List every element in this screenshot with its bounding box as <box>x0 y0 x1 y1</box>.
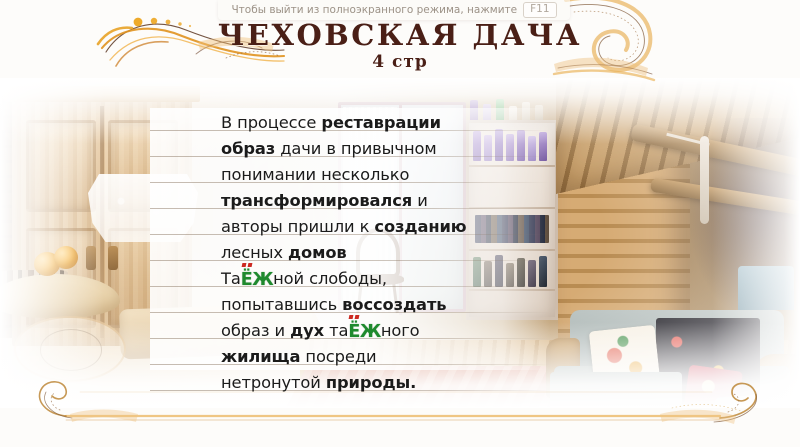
article-text-panel: В процессе реставрацииобраз дачи в привы… <box>150 108 550 370</box>
blue-pillow <box>715 394 770 408</box>
article-emphasis: реставрации <box>321 113 441 132</box>
page-subtitle: 4 стр <box>0 52 800 72</box>
article-line: образ и дух таЁЖного <box>221 318 551 344</box>
lamp-shade-ring <box>14 316 126 382</box>
ezh-logo-dots-icon <box>242 263 253 268</box>
wardrobe-panel <box>26 120 96 212</box>
wooden-sofa <box>548 310 800 408</box>
article-line: авторы пришли к созданию <box>221 214 551 240</box>
orange-fruit <box>54 246 78 269</box>
article-emphasis: жилища <box>221 347 300 366</box>
slide-stage: В процессе реставрацииобраз дачи в привы… <box>0 0 800 447</box>
article-line: трансформировался и <box>221 188 551 214</box>
article-body: В процессе реставрацииобраз дачи в привы… <box>221 110 551 396</box>
article-emphasis: природы. <box>326 373 416 392</box>
article-text: В процессе <box>221 113 321 132</box>
article-emphasis: домов <box>288 243 347 262</box>
article-emphasis: образ <box>221 139 275 158</box>
article-line: жилища посреди <box>221 344 551 370</box>
article-text: ного <box>381 321 420 340</box>
article-text: попытавшись <box>221 295 342 314</box>
article-text: посреди <box>300 347 376 366</box>
article-emphasis: созданию <box>374 217 466 236</box>
fullscreen-key-badge: F11 <box>523 2 556 18</box>
article-text: лесных <box>221 243 288 262</box>
article-text: та <box>324 321 348 340</box>
fullscreen-hint-text: Чтобы выйти из полноэкранного режима, на… <box>231 4 517 16</box>
article-emphasis: трансформировался <box>221 191 412 210</box>
article-text: ной слободы, <box>273 269 387 288</box>
ezh-logo: ЁЖ <box>348 319 380 345</box>
sofa-drape <box>550 372 682 408</box>
wardrobe-handle <box>86 246 96 270</box>
blue-side-table <box>738 266 794 310</box>
article-text: нетронутой <box>221 373 326 392</box>
article-line: В процессе реставрации <box>221 110 551 136</box>
page-title: ЧЕХОВСКАЯ ДАЧА <box>0 18 800 52</box>
ezh-logo-dots-icon <box>349 315 360 320</box>
article-text: образ и <box>221 321 290 340</box>
pillar-lamp <box>700 136 709 224</box>
article-line: попытавшись воссоздать <box>221 292 551 318</box>
fullscreen-hint-bar: Чтобы выйти из полноэкранного режима, на… <box>218 0 570 20</box>
article-line: нетронутой природы. <box>221 370 551 396</box>
article-text: дачи в привычном <box>275 139 436 158</box>
article-text: и <box>412 191 428 210</box>
article-line: ТаЁЖной слободы, <box>221 266 551 292</box>
article-line: образ дачи в привычном <box>221 136 551 162</box>
article-text: авторы пришли к <box>221 217 374 236</box>
article-emphasis: воссоздать <box>342 295 446 314</box>
article-emphasis: дух <box>290 321 324 340</box>
wardrobe-handle <box>108 246 118 270</box>
article-line: понимании несколько <box>221 162 551 188</box>
article-text: понимании несколько <box>221 165 409 184</box>
ezh-logo: ЁЖ <box>241 267 273 293</box>
article-line: лесных домов <box>221 240 551 266</box>
article-text: Та <box>221 269 241 288</box>
